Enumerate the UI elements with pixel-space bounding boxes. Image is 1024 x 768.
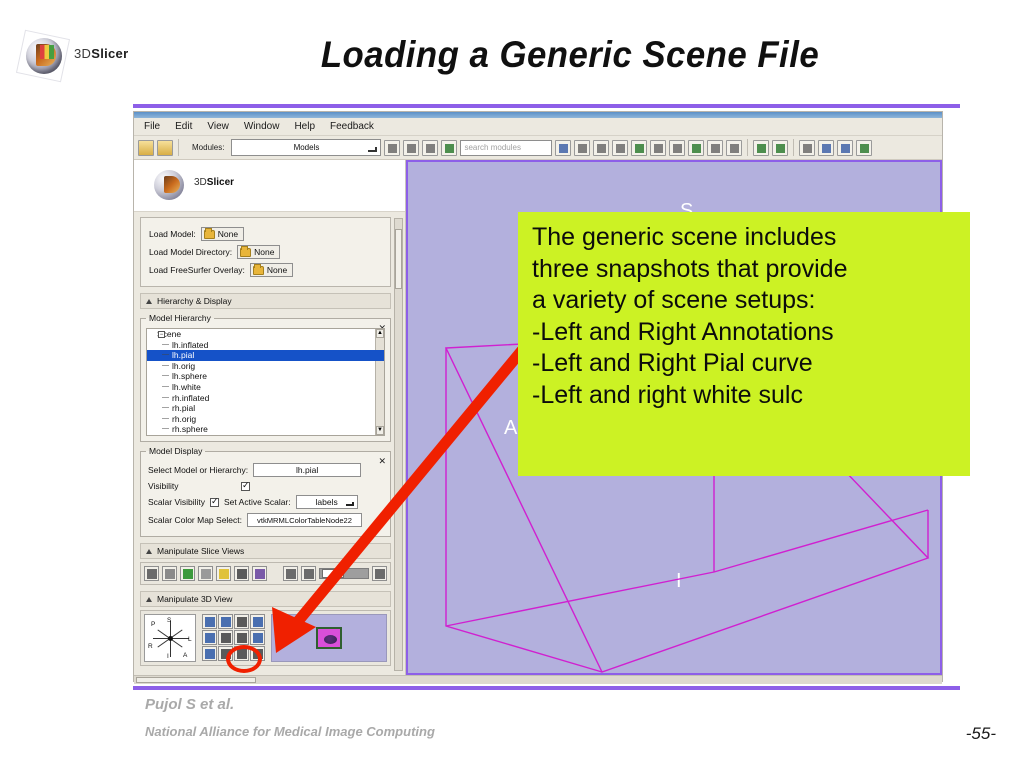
caret-up-icon — [146, 597, 152, 602]
load-model-group: Load Model: None Load Model Directory: N… — [140, 217, 391, 287]
visibility-row: Visibility — [148, 481, 383, 491]
callout-line-5: -Left and Right Pial curve — [532, 348, 958, 380]
save-scene-icon[interactable] — [157, 140, 173, 156]
load-model-directory-label: Load Model Directory: — [149, 247, 232, 257]
compass-label-i: I — [167, 653, 169, 660]
highlight-circle — [226, 645, 262, 673]
modules-select[interactable]: Models — [231, 139, 381, 156]
view-rock-icon[interactable] — [218, 630, 233, 645]
load-model-directory-button[interactable]: None — [237, 245, 280, 259]
load-model-directory-value: None — [254, 247, 274, 257]
load-scene-icon[interactable] — [138, 140, 154, 156]
editor-module-icon[interactable] — [650, 140, 666, 156]
tree-node-lh-pial[interactable]: lh.pial — [147, 350, 384, 361]
tree-node-label: rh.pial — [172, 403, 195, 413]
folder-icon — [253, 266, 264, 275]
slice-label-icon[interactable] — [180, 566, 195, 581]
hierarchy-display-label: Hierarchy & Display — [157, 296, 232, 306]
view-spin-icon[interactable] — [202, 630, 217, 645]
tree-node-label: rh.sphere — [172, 424, 208, 434]
tree-node-lh-white[interactable]: lh.white — [147, 382, 384, 393]
compass-label-r: R — [148, 643, 153, 650]
callout-line-6: -Left and right white sulc — [532, 380, 958, 412]
select-model-field[interactable]: lh.pial — [253, 463, 361, 477]
annotations-icon[interactable] — [688, 140, 704, 156]
compass-label-l: L — [188, 636, 192, 643]
volumes-module-icon[interactable] — [612, 140, 628, 156]
slicer-logo-icon — [18, 32, 70, 80]
slice-link-icon[interactable] — [283, 566, 298, 581]
modules-select-value: Models — [294, 143, 320, 152]
slice-layout-icon[interactable] — [372, 566, 387, 581]
tree-node-label: rh.orig — [172, 414, 196, 424]
screenshot-icon[interactable] — [799, 140, 815, 156]
caret-up-icon — [146, 299, 152, 304]
set-active-scalar-select[interactable]: labels — [296, 495, 358, 509]
manipulate-3d-view-label: Manipulate 3D View — [157, 594, 232, 604]
module-panel-scrollbar[interactable] — [394, 218, 403, 671]
colors-icon[interactable] — [726, 140, 742, 156]
tree-node-label: lh.pial — [172, 350, 194, 360]
tree-node-lh-sphere[interactable]: lh.sphere — [147, 371, 384, 382]
ruler-place-icon[interactable] — [837, 140, 853, 156]
horizontal-scrollbar[interactable] — [134, 675, 942, 684]
tree-node-label: lh.sphere — [172, 371, 207, 381]
color-map-label: Scalar Color Map Select: — [148, 515, 242, 525]
panel-logo-wordmark: 3DSlicer — [194, 177, 234, 188]
close-icon[interactable]: ✕ — [378, 457, 386, 466]
folder-icon — [240, 248, 251, 257]
manipulate-3d-view-section[interactable]: Manipulate 3D View — [140, 591, 391, 607]
toolbar-separator-2 — [747, 139, 748, 156]
tree-node-label: lh.white — [172, 382, 201, 392]
footer-divider — [133, 686, 960, 690]
view-zoom-in-icon[interactable] — [250, 614, 265, 629]
model-display-box: Model Display ✕ Select Model or Hierarch… — [140, 446, 391, 537]
menu-item-edit[interactable]: Edit — [175, 121, 192, 132]
set-active-scalar-value: labels — [316, 497, 338, 507]
set-active-scalar-label: Set Active Scalar: — [224, 497, 291, 507]
transforms-module-icon[interactable] — [631, 140, 647, 156]
panel-slicer-logo-icon — [148, 166, 188, 206]
color-map-field[interactable]: vtkMRMLColorTableNode22 — [247, 513, 362, 527]
view-zoom-out-icon[interactable] — [250, 630, 265, 645]
callout-line-3: a variety of scene setups: — [532, 285, 958, 317]
panel-logo: 3DSlicer — [134, 160, 405, 212]
tree-node-label: rh.inflated — [172, 393, 209, 403]
tree-node-scene[interactable]: − Scene — [147, 329, 384, 340]
view3d-controls[interactable]: S I L R A P — [140, 610, 391, 666]
slider-knob[interactable] — [322, 569, 344, 578]
title-divider — [133, 104, 960, 108]
expander-icon[interactable]: − — [158, 331, 165, 338]
hierarchy-display-section[interactable]: Hierarchy & Display — [140, 293, 391, 309]
snapshot-preview-image — [316, 627, 342, 649]
slice-views-toolbar[interactable] — [140, 562, 391, 585]
menu-item-window[interactable]: Window — [244, 121, 280, 132]
menu-item-help[interactable]: Help — [294, 121, 315, 132]
manipulate-slice-views-section[interactable]: Manipulate Slice Views — [140, 543, 391, 559]
models-module-icon[interactable] — [593, 140, 609, 156]
load-model-label: Load Model: — [149, 229, 196, 239]
manipulate-slice-views-label: Manipulate Slice Views — [157, 546, 244, 556]
load-model-value: None — [218, 229, 238, 239]
view-stereo-icon[interactable] — [234, 630, 249, 645]
select-model-row: Select Model or Hierarchy: lh.pial — [148, 463, 383, 477]
select-model-label: Select Model or Hierarchy: — [148, 465, 248, 475]
scalar-visibility-label: Scalar Visibility — [148, 497, 205, 507]
load-freesurfer-overlay-label: Load FreeSurfer Overlay: — [149, 265, 245, 275]
page-title: Loading a Generic Scene File — [175, 34, 965, 76]
tree-node-lh-inflated[interactable]: lh.inflated — [147, 340, 384, 351]
caret-up-icon — [146, 549, 152, 554]
slice-visibility-icon[interactable] — [144, 566, 159, 581]
chevron-down-icon — [346, 502, 354, 506]
view-anchor-icon[interactable] — [202, 646, 217, 661]
search-modules-input[interactable]: search modules — [460, 140, 552, 156]
callout-line-4: -Left and Right Annotations — [532, 317, 958, 349]
callout-line-2: three snapshots that provide — [532, 254, 958, 286]
main-toolbar[interactable]: Modules: Models search modules — [134, 136, 942, 160]
page-number: -55- — [966, 724, 996, 744]
slice-copy-icon[interactable] — [301, 566, 316, 581]
toolbar-separator-3 — [793, 139, 794, 156]
toolbar-separator — [178, 139, 179, 156]
next-module-icon[interactable] — [403, 140, 419, 156]
callout-box: The generic scene includes three snapsho… — [518, 212, 970, 476]
tree-node-rh-inflated[interactable]: rh.inflated — [147, 393, 384, 404]
menu-bar[interactable]: File Edit View Window Help Feedback — [134, 118, 942, 136]
logo-pixels-shape — [40, 45, 54, 59]
load-freesurfer-overlay-row: Load FreeSurfer Overlay: None — [149, 263, 382, 277]
redo-icon[interactable] — [772, 140, 788, 156]
compass-center-dot — [168, 636, 173, 641]
tree-node-lh-orig[interactable]: lh.orig — [147, 361, 384, 372]
module-history-icon[interactable] — [422, 140, 438, 156]
orientation-compass-widget[interactable]: S I L R A P — [144, 614, 196, 662]
slice-opacity-slider[interactable] — [319, 568, 369, 579]
modules-label: Modules: — [192, 143, 224, 152]
model-display-title: Model Display — [146, 446, 205, 456]
load-model-button[interactable]: None — [201, 227, 244, 241]
tree-node-label: lh.inflated — [172, 340, 208, 350]
scalar-visibility-row: Scalar Visibility Set Active Scalar: lab… — [148, 495, 383, 509]
view-rotate-left-icon[interactable] — [202, 614, 217, 629]
compass-label-a: A — [183, 652, 187, 659]
tree-node-rh-sphere[interactable]: rh.sphere — [147, 424, 384, 435]
tree-node-rh-pial[interactable]: rh.pial — [147, 403, 384, 414]
search-icon[interactable] — [555, 140, 571, 156]
load-model-row: Load Model: None — [149, 227, 382, 241]
model-hierarchy-title: Model Hierarchy — [146, 313, 214, 323]
home-module-icon[interactable] — [574, 140, 590, 156]
scrollbar-thumb[interactable] — [136, 677, 256, 683]
footer-author: Pujol S et al. — [145, 696, 435, 713]
folder-icon — [204, 230, 215, 239]
reload-module-icon[interactable] — [441, 140, 457, 156]
reset-view-icon[interactable] — [856, 140, 872, 156]
previous-module-icon[interactable] — [384, 140, 400, 156]
compass-label-p: P — [151, 621, 155, 628]
menu-item-feedback[interactable]: Feedback — [330, 121, 374, 132]
slice-crosshair-icon[interactable] — [216, 566, 231, 581]
module-panel: 3DSlicer Load Model: None Load Model Di — [134, 160, 406, 675]
view-center-icon[interactable] — [218, 614, 233, 629]
menu-item-file[interactable]: File — [144, 121, 160, 132]
slide: 3DSlicer Loading a Generic Scene File Fi… — [0, 0, 1024, 768]
logo-wordmark: 3DSlicer — [74, 46, 128, 61]
fiducials-icon[interactable] — [669, 140, 685, 156]
slice-compare-icon[interactable] — [234, 566, 249, 581]
view-box-icon[interactable] — [234, 614, 249, 629]
compass-label-s: S — [167, 617, 171, 624]
model-hierarchy-box: Model Hierarchy ✕ ▲ ▼ − Scene lh.inflate… — [140, 313, 391, 442]
undo-icon[interactable] — [753, 140, 769, 156]
visibility-label: Visibility — [148, 481, 236, 491]
tree-node-label: lh.orig — [172, 361, 195, 371]
scrollbar-thumb[interactable] — [395, 229, 402, 289]
fiducial-place-icon[interactable] — [818, 140, 834, 156]
menu-item-view[interactable]: View — [207, 121, 229, 132]
measurement-icon[interactable] — [707, 140, 723, 156]
scalar-visibility-checkbox[interactable] — [210, 498, 219, 507]
load-model-directory-row: Load Model Directory: None — [149, 245, 382, 259]
slice-fg-icon[interactable] — [162, 566, 177, 581]
load-freesurfer-overlay-button[interactable]: None — [250, 263, 293, 277]
slice-fit-icon[interactable] — [252, 566, 267, 581]
model-hierarchy-tree[interactable]: ▲ ▼ − Scene lh.inflated lh.pial lh.orig … — [146, 328, 385, 436]
slice-annotation-icon[interactable] — [198, 566, 213, 581]
visibility-checkbox[interactable] — [241, 482, 250, 491]
chevron-down-icon — [368, 147, 377, 152]
tree-node-rh-orig[interactable]: rh.orig — [147, 414, 384, 425]
load-freesurfer-overlay-value: None — [267, 265, 287, 275]
nac-3dslicer-logo: 3DSlicer — [18, 32, 148, 80]
scene-snapshot-thumbnail[interactable] — [271, 614, 387, 662]
footer: Pujol S et al. National Alliance for Med… — [145, 696, 435, 739]
color-map-row: Scalar Color Map Select: vtkMRMLColorTab… — [148, 513, 383, 527]
callout-line-1: The generic scene includes — [532, 222, 958, 254]
footer-organization: National Alliance for Medical Image Comp… — [145, 724, 435, 739]
